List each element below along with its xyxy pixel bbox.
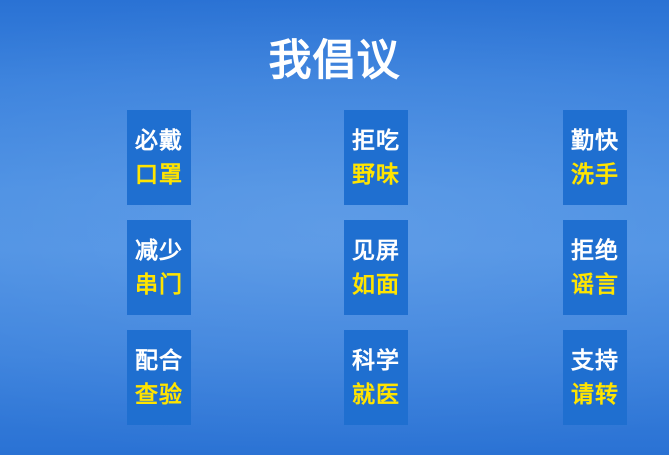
slogan-card-line-2: 洗手 — [571, 158, 619, 192]
slogan-card: 见屏 如面 — [344, 220, 408, 315]
slogan-card: 减少 串门 — [127, 220, 191, 315]
slogan-card: 勤快 洗手 — [563, 110, 627, 205]
slogan-card-line-1: 拒绝 — [571, 234, 619, 268]
slogan-card-line-2: 串门 — [135, 268, 183, 302]
slogan-row: 减少 串门 见屏 如面 拒绝 谣言 — [0, 220, 669, 315]
poster-canvas: 我倡议 必戴 口罩 拒吃 野味 勤快 洗手 减少 串门 见屏 如面 — [0, 0, 669, 455]
page-title: 我倡议 — [0, 36, 669, 86]
slogan-card: 拒绝 谣言 — [563, 220, 627, 315]
slogan-card-grid: 必戴 口罩 拒吃 野味 勤快 洗手 减少 串门 见屏 如面 拒绝 — [0, 110, 669, 430]
slogan-card-line-2: 如面 — [352, 268, 400, 302]
slogan-card: 拒吃 野味 — [344, 110, 408, 205]
slogan-card-line-2: 查验 — [135, 378, 183, 412]
slogan-card: 必戴 口罩 — [127, 110, 191, 205]
slogan-card-line-1: 配合 — [135, 344, 183, 378]
slogan-card-line-1: 见屏 — [352, 234, 400, 268]
slogan-card-line-1: 拒吃 — [352, 124, 400, 158]
slogan-card-line-1: 勤快 — [571, 124, 619, 158]
slogan-card-line-2: 就医 — [352, 378, 400, 412]
slogan-row: 必戴 口罩 拒吃 野味 勤快 洗手 — [0, 110, 669, 205]
slogan-card-line-2: 谣言 — [571, 268, 619, 302]
slogan-card: 配合 查验 — [127, 330, 191, 425]
slogan-card-line-2: 口罩 — [135, 158, 183, 192]
slogan-card-line-1: 科学 — [352, 344, 400, 378]
slogan-card-line-2: 请转 — [571, 378, 619, 412]
slogan-card-line-1: 减少 — [135, 234, 183, 268]
slogan-card-line-1: 支持 — [571, 344, 619, 378]
slogan-card-line-2: 野味 — [352, 158, 400, 192]
slogan-card-line-1: 必戴 — [135, 124, 183, 158]
slogan-card: 科学 就医 — [344, 330, 408, 425]
slogan-row: 配合 查验 科学 就医 支持 请转 — [0, 330, 669, 425]
slogan-card: 支持 请转 — [563, 330, 627, 425]
